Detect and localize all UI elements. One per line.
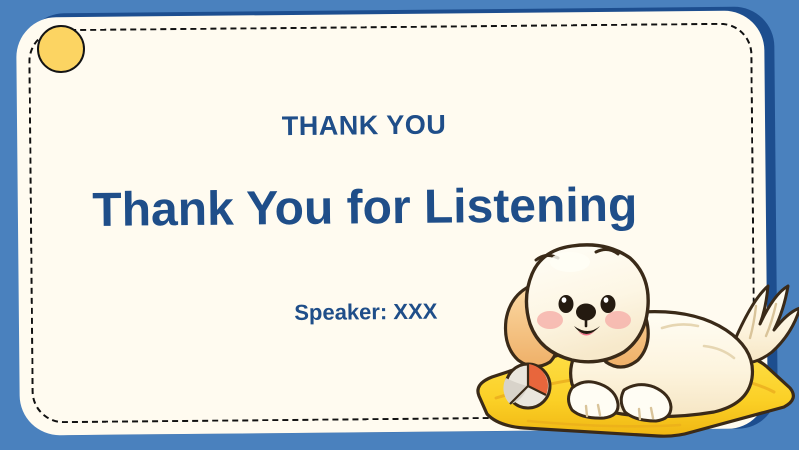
ball: [503, 364, 550, 408]
nose: [576, 304, 596, 321]
dog-head: [526, 245, 648, 362]
eyebrow-label: THANK YOU: [0, 107, 729, 145]
eye-right: [601, 295, 616, 313]
page-title: Thank You for Listening: [0, 177, 730, 239]
puppy-on-cushion-illustration: [466, 238, 799, 438]
cheek-left: [537, 311, 563, 329]
eye-left: [559, 295, 574, 313]
thank-you-slide: THANK YOU Thank You for Listening Speake…: [0, 0, 799, 450]
cheek-right: [605, 311, 631, 329]
